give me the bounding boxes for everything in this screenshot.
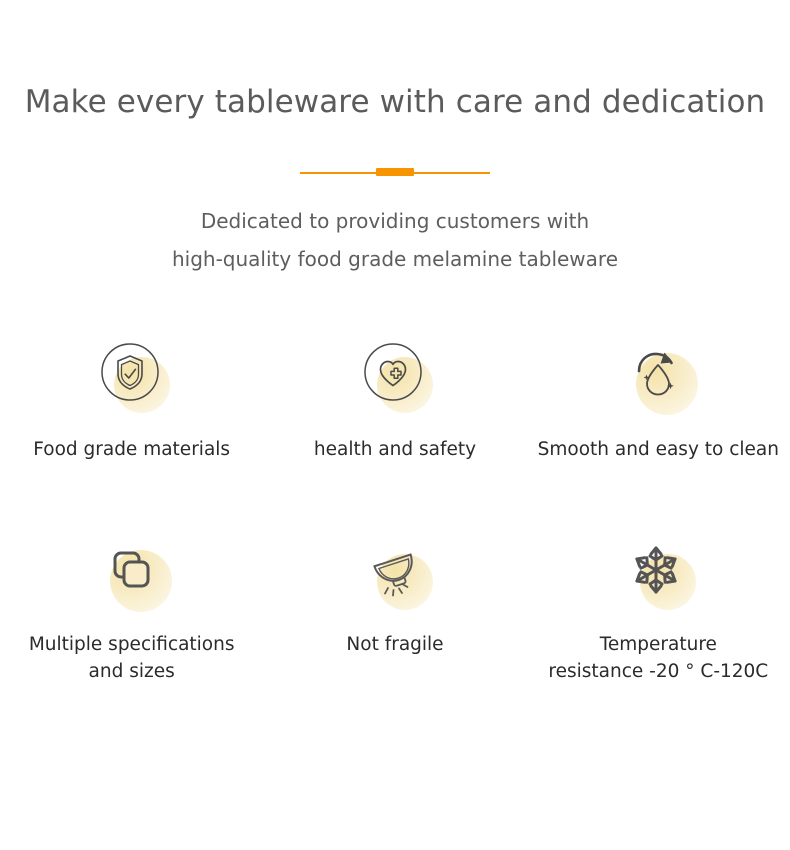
feature-label: Temperature resistance -20 ° C-120C	[544, 632, 772, 686]
stacked-squares-icon	[99, 538, 165, 604]
icon-wrap	[351, 333, 439, 415]
icon-wrap	[614, 530, 702, 612]
icon-wrap	[351, 530, 439, 612]
feature-label: health and safety	[310, 437, 480, 464]
feature-label: Multiple specifications and sizes	[25, 632, 239, 686]
water-droplet-sparkle-icon	[625, 341, 691, 407]
page-subtitle: Dedicated to providing customers with hi…	[0, 179, 790, 287]
feature-smooth-easy-to-clean[interactable]: Smooth and easy to clean	[527, 333, 790, 464]
feature-label: Not fragile	[342, 632, 447, 659]
tilted-bowl-icon	[362, 538, 428, 604]
feature-highlights-page: Make every tableware with care and dedic…	[0, 0, 790, 850]
feature-multiple-specifications[interactable]: Multiple specifications and sizes	[0, 530, 263, 686]
feature-grid: Food grade materials health and safety	[0, 333, 790, 685]
icon-wrap	[88, 333, 176, 415]
subtitle-line-2: high-quality food grade melamine tablewa…	[0, 249, 790, 287]
feature-not-fragile[interactable]: Not fragile	[263, 530, 526, 686]
page-headline: Make every tableware with care and dedic…	[0, 0, 790, 121]
feature-temperature-resistance[interactable]: Temperature resistance -20 ° C-120C	[527, 530, 790, 686]
feature-health-and-safety[interactable]: health and safety	[263, 333, 526, 464]
heart-plus-icon	[362, 341, 428, 407]
snowflake-icon	[625, 538, 691, 604]
feature-label: Food grade materials	[29, 437, 234, 464]
shield-check-icon	[99, 341, 165, 407]
icon-wrap	[614, 333, 702, 415]
subtitle-line-1: Dedicated to providing customers with	[0, 211, 790, 249]
feature-label: Smooth and easy to clean	[534, 437, 783, 464]
divider	[300, 167, 490, 179]
icon-wrap	[88, 530, 176, 612]
feature-food-grade-materials[interactable]: Food grade materials	[0, 333, 263, 464]
divider-center-block	[376, 168, 414, 176]
